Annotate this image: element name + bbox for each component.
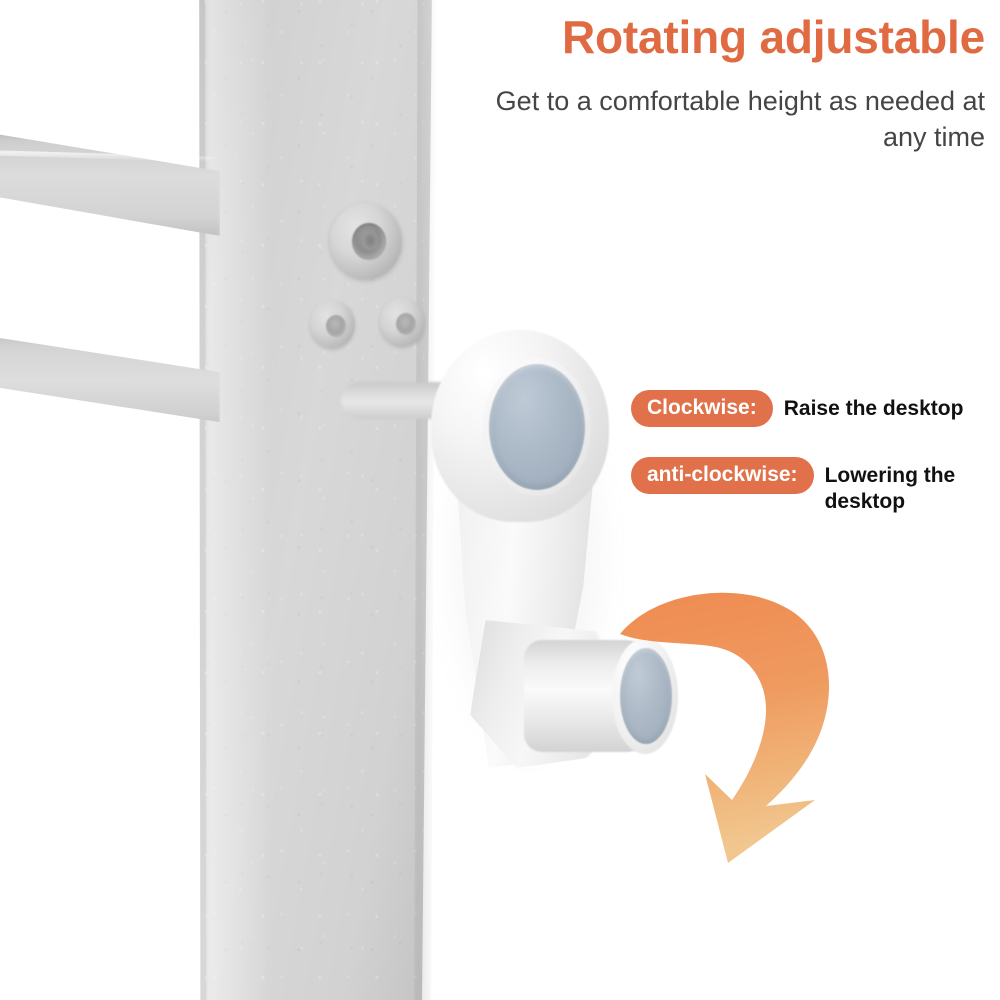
small-bolt-left	[310, 300, 355, 348]
small-bolt-right	[380, 298, 425, 346]
callout-anticlockwise-description: Lowering the desktop	[825, 457, 1000, 516]
callout-anticlockwise-pill: anti-clockwise:	[631, 457, 814, 494]
page-title: Rotating adjustable	[400, 12, 985, 64]
callout-clockwise-description: Raise the desktop	[784, 390, 964, 422]
callout-anticlockwise: anti-clockwise: Lowering the desktop	[631, 457, 1000, 516]
callout-clockwise-pill: Clockwise:	[631, 390, 773, 427]
infographic-canvas: Rotating adjustable Get to a comfortable…	[0, 0, 1000, 1000]
large-hex-bolt	[330, 203, 402, 279]
rotation-arrow	[610, 588, 840, 863]
page-subtitle: Get to a comfortable height as needed at…	[450, 84, 985, 155]
upper-crossbar	[0, 128, 220, 236]
lower-crossbar	[0, 330, 220, 426]
callout-clockwise: Clockwise: Raise the desktop	[631, 390, 963, 427]
post-highlight	[205, 0, 275, 1000]
crank-hub-cap	[489, 364, 585, 490]
